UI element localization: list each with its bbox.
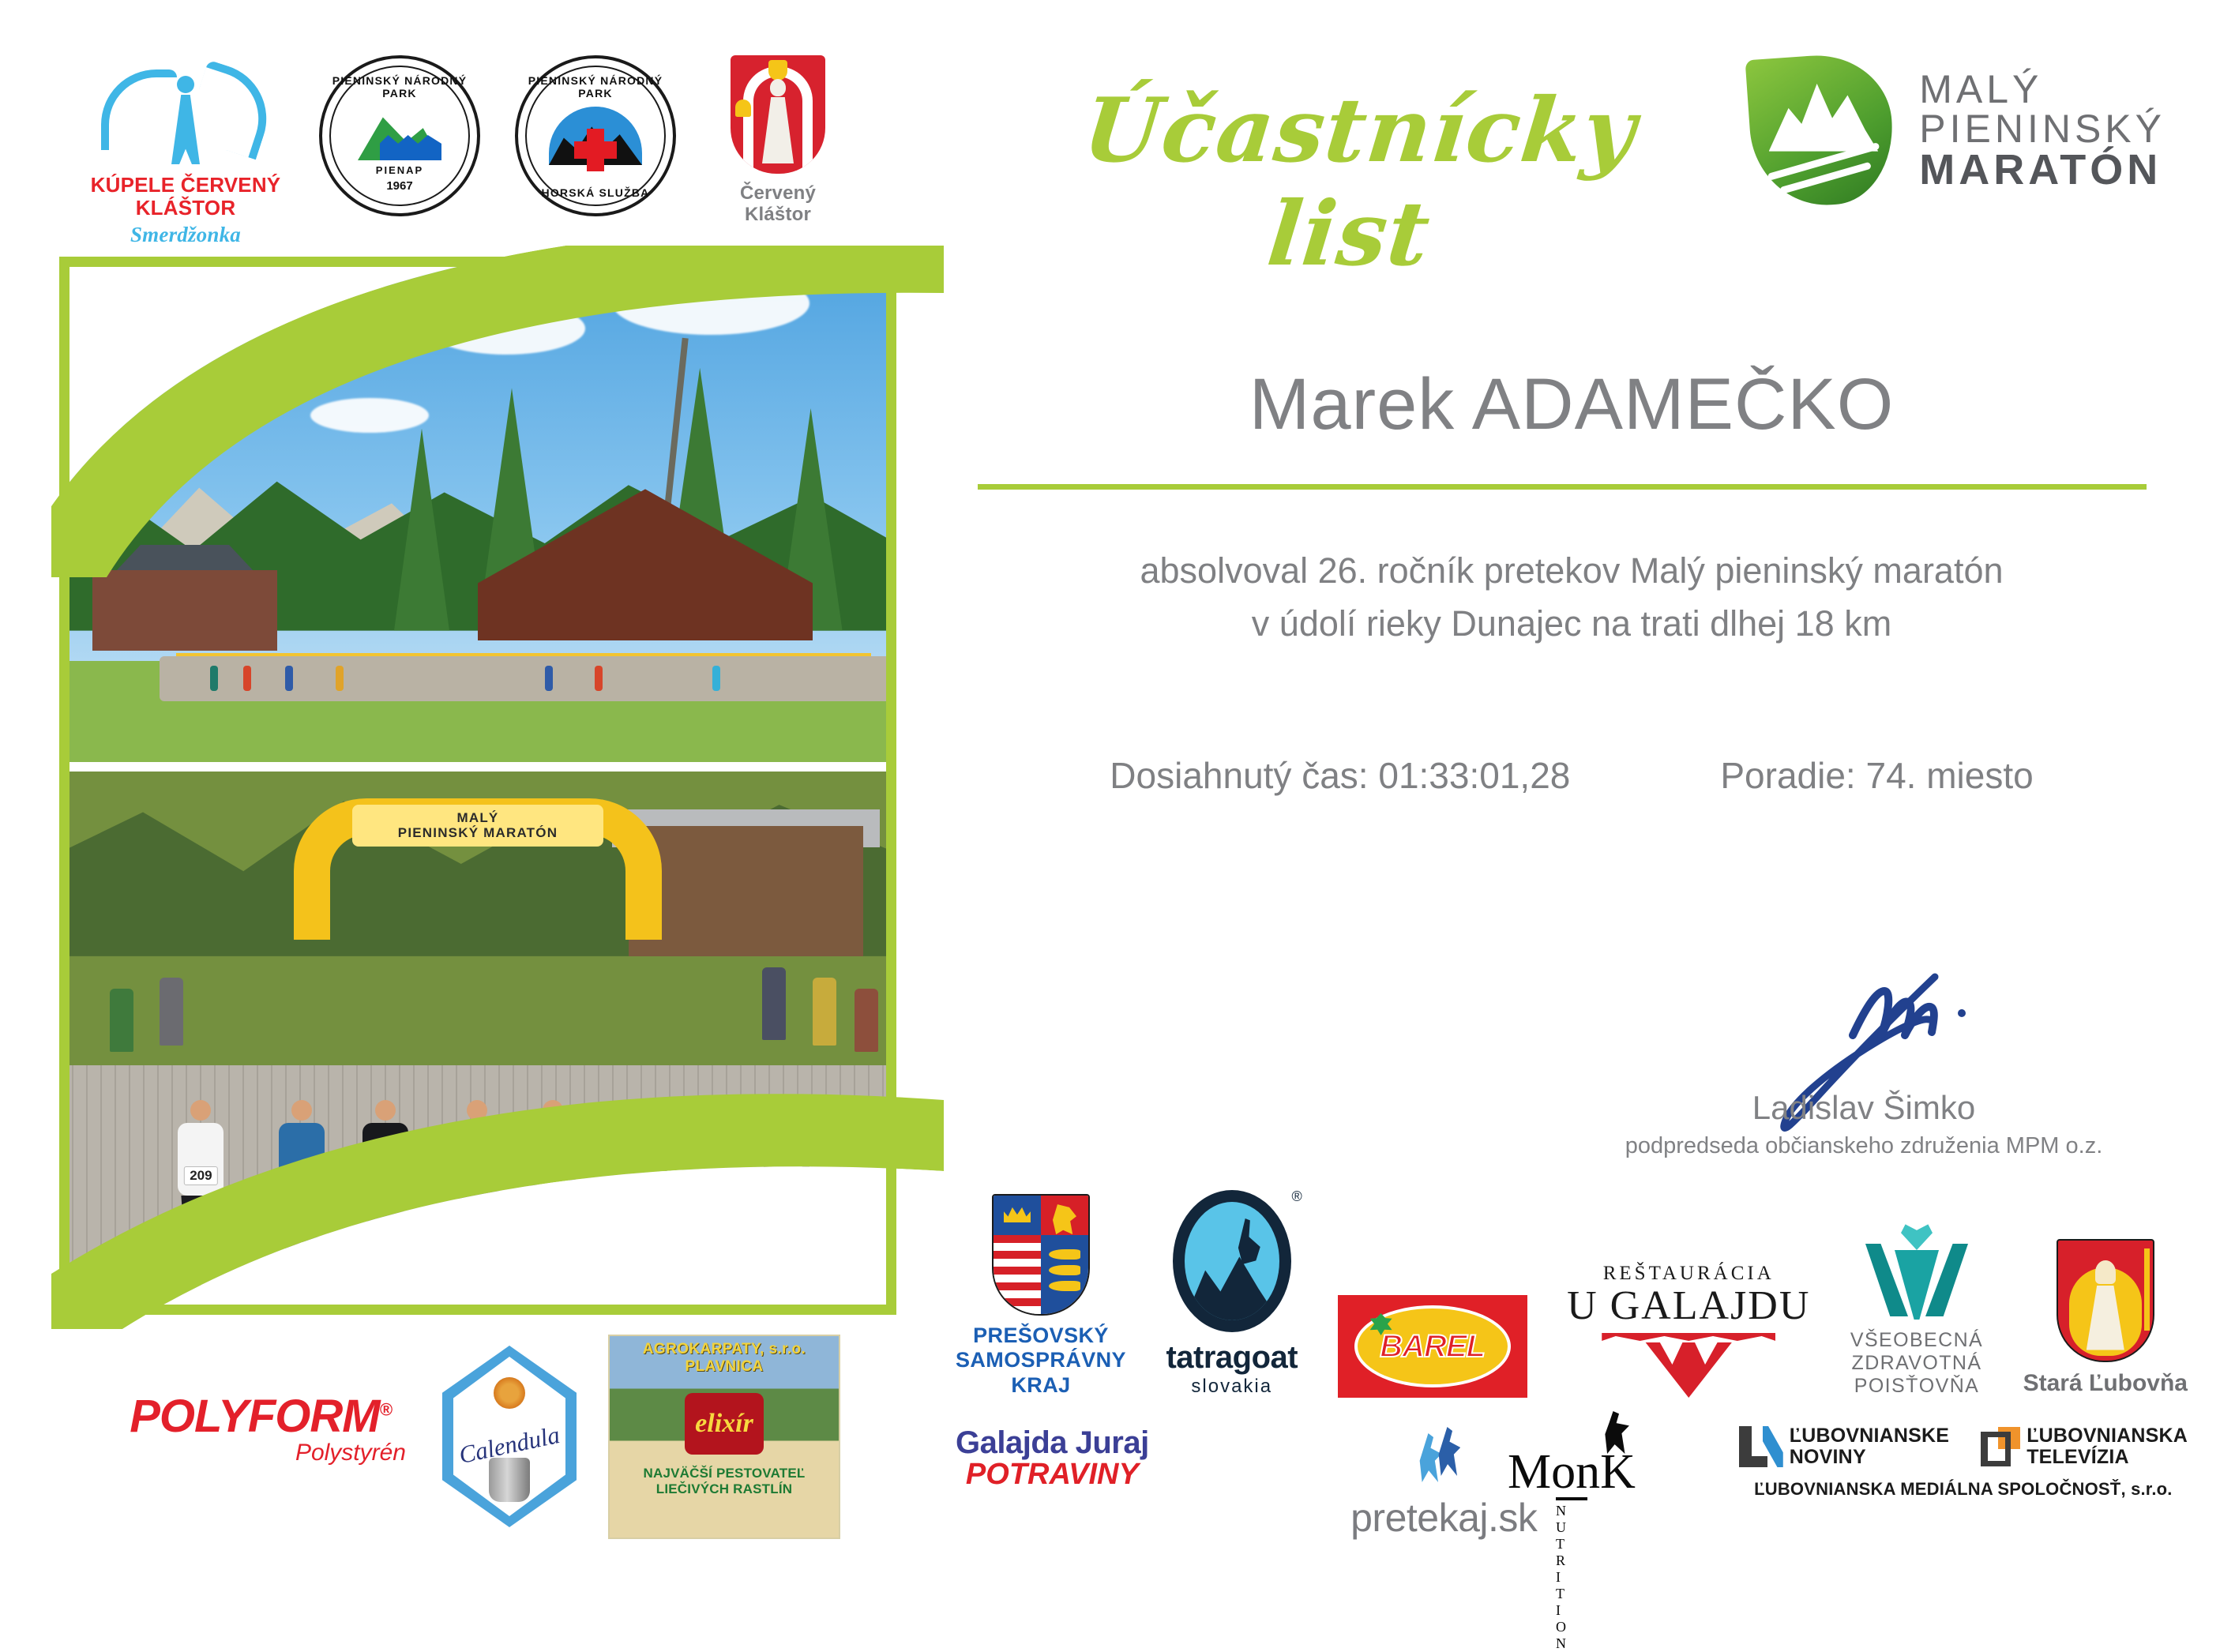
ugalajdu-line2: U GALAJDU bbox=[1567, 1285, 1810, 1328]
monk-subtitle: N U T R I T I O N bbox=[1556, 1503, 1587, 1652]
hs-arc-top: PIENINSKÝ NÁRODNÝ PARK bbox=[518, 74, 673, 99]
stara-lubovna-crest-icon bbox=[2057, 1239, 2154, 1362]
finish-place: Poradie: 74. miesto bbox=[1720, 754, 2033, 797]
media-company-note: ĽUBOVNIANSKA MEDIÁLNA SPOLOČNOSŤ, s.r.o. bbox=[1754, 1479, 2173, 1500]
monk-name: MonK bbox=[1508, 1445, 1636, 1499]
photo-panel: MALÝ PIENINSKÝ MARATÓN 209 74 bbox=[59, 257, 896, 1315]
runner-bib: 209 bbox=[184, 1166, 217, 1185]
logo-monk-nutrition: MonK N U T R I T I O N bbox=[1556, 1449, 1587, 1652]
sponsor-row-2: Galajda Juraj POTRAVINY MonK N U T R I T… bbox=[956, 1425, 2188, 1560]
amphitheatre-photo bbox=[59, 257, 896, 762]
signature-role: podpredseda občianskeho združenia MPM o.… bbox=[1564, 1133, 2164, 1159]
results-row: Dosiahnutý čas: 01:33:01,28 Poradie: 74.… bbox=[979, 754, 2164, 797]
logo-cerveny-klastor-obec: Červený Kláštor bbox=[711, 55, 845, 226]
sponsor-logos-bottom-left: POLYFORM® Polystyrén Calendula AGROKARPA… bbox=[103, 1335, 924, 1548]
folk-ornament-icon bbox=[1602, 1333, 1775, 1341]
pienap-seal-icon: PIENINSKÝ NÁRODNÝ PARK PIENAP 1967 bbox=[319, 55, 480, 216]
logo-u-galajdu: REŠTAURÁCIA U GALAJDU bbox=[1567, 1263, 1810, 1398]
logo-kupele-cerveny-klastor: KÚPELE ČERVENÝ KLÁŠTOR Smerdžonka bbox=[87, 55, 284, 246]
signature-name: Ladislav Šimko bbox=[1564, 1089, 2164, 1127]
title-divider bbox=[978, 484, 2147, 490]
top-partner-logos: KÚPELE ČERVENÝ KLÁŠTOR Smerdžonka PIENIN… bbox=[87, 55, 924, 237]
agrokarpaty-top: AGROKARPATY, s.r.o. PLAVNICA bbox=[610, 1336, 839, 1376]
runner-bib: 234 bbox=[770, 1166, 803, 1185]
vzp-line1: VŠEOBECNÁ bbox=[1850, 1329, 1983, 1352]
goat-mountain-icon: ® bbox=[1173, 1190, 1291, 1332]
folk-ornament-icon bbox=[1637, 1342, 1740, 1398]
agrokarpaty-bottom-2: LIEČIVÝCH RASTLÍN bbox=[610, 1481, 839, 1497]
psk-crest-icon bbox=[992, 1194, 1090, 1316]
pienap-arc-top: PIENINSKÝ NÁRODNÝ PARK bbox=[322, 74, 477, 99]
runners-icon bbox=[1418, 1425, 1470, 1485]
runner-bib: 74 bbox=[288, 1166, 314, 1185]
logo-tatragoat: ® tatragoat slovakia bbox=[1166, 1190, 1298, 1398]
tatragoat-reg: ® bbox=[1291, 1188, 1302, 1205]
tatragoat-line2: slovakia bbox=[1191, 1376, 1272, 1398]
vzp-mark-icon bbox=[1865, 1223, 1968, 1318]
runner-bib: 147 bbox=[535, 1166, 569, 1185]
logo-vseobecna-zdravotna-poistovna: VŠEOBECNÁ ZDRAVOTNÁ POISŤOVŇA bbox=[1850, 1223, 1983, 1398]
logo-barel: BAREL bbox=[1338, 1295, 1527, 1398]
stara-lubovna-caption: Stará Ľubovňa bbox=[2023, 1370, 2188, 1398]
barel-name: BAREL bbox=[1380, 1329, 1485, 1365]
agrokarpaty-brand: elixír bbox=[685, 1393, 764, 1455]
logo-galajda-juraj: Galajda Juraj POTRAVINY bbox=[956, 1425, 1149, 1492]
event-logo-line1: MALÝ bbox=[1919, 69, 2166, 109]
galajda-line1: Galajda Juraj bbox=[956, 1425, 1149, 1461]
psk-line1: PREŠOVSKÝ bbox=[956, 1323, 1126, 1348]
hs-arc-bottom: HORSKÁ SLUŽBA bbox=[518, 186, 673, 199]
mountain-leaf-icon bbox=[1750, 55, 1892, 205]
logo-kupele-line1: KÚPELE ČERVENÝ KLÁŠTOR bbox=[87, 174, 284, 220]
ln-line2: NOVINY bbox=[1790, 1447, 1949, 1468]
polyform-name: POLYFORM bbox=[130, 1391, 379, 1442]
coat-of-arms-icon bbox=[731, 55, 825, 174]
logo-presovsky-samospravny-kraj: PREŠOVSKÝ SAMOSPRÁVNY KRAJ bbox=[956, 1194, 1126, 1398]
logo-lubovnianske-noviny: ĽUBOVNIANSKE NOVINY bbox=[1739, 1425, 1949, 1468]
pienap-word: PIENAP bbox=[376, 164, 423, 176]
vzp-line2: ZDRAVOTNÁ bbox=[1850, 1352, 1983, 1375]
logo-pienap: PIENINSKÝ NÁRODNÝ PARK PIENAP 1967 bbox=[319, 55, 480, 216]
vzp-line3: POISŤOVŇA bbox=[1850, 1375, 1983, 1398]
certificate-page: KÚPELE ČERVENÝ KLÁŠTOR Smerdžonka PIENIN… bbox=[0, 0, 2235, 1579]
logo-agrokarpaty: AGROKARPATY, s.r.o. PLAVNICA elixír NAJV… bbox=[608, 1335, 840, 1539]
logo-lubovnianska-medialna: ĽUBOVNIANSKE NOVINY ĽUBOVNIANSKA TELEVÍZ… bbox=[1739, 1425, 2188, 1500]
recipient-description: absolvoval 26. ročník pretekov Malý pien… bbox=[979, 545, 2164, 650]
finish-time: Dosiahnutý čas: 01:33:01,28 bbox=[1110, 754, 1570, 797]
lt-line2: TELEVÍZIA bbox=[2027, 1447, 2188, 1468]
ln-monogram-icon bbox=[1739, 1426, 1783, 1467]
tatragoat-line1: tatragoat bbox=[1166, 1340, 1298, 1376]
agrokarpaty-bottom-1: NAJVÄČŠÍ PESTOVATEĽ bbox=[610, 1466, 839, 1481]
ugalajdu-line1: REŠTAURÁCIA bbox=[1603, 1263, 1775, 1285]
logo-cerveny-klastor-caption: Červený Kláštor bbox=[711, 183, 845, 226]
logo-horska-sluzba: PIENINSKÝ NÁRODNÝ PARK HORSKÁ SLUŽBA bbox=[515, 55, 676, 216]
psk-line2: SAMOSPRÁVNY bbox=[956, 1348, 1126, 1372]
sponsor-row-1: PREŠOVSKÝ SAMOSPRÁVNY KRAJ ® tatragoat s… bbox=[956, 1200, 2188, 1398]
runner-bib: 249 bbox=[368, 1166, 401, 1185]
lt-monogram-icon bbox=[1981, 1427, 2020, 1466]
logo-polyform: POLYFORM® Polystyrén bbox=[103, 1390, 419, 1466]
horska-sluzba-seal-icon: PIENINSKÝ NÁRODNÝ PARK HORSKÁ SLUŽBA bbox=[515, 55, 676, 216]
event-logo-line3: MARATÓN bbox=[1919, 148, 2166, 191]
logo-stara-lubovna: Stará Ľubovňa bbox=[2023, 1239, 2188, 1398]
arch-line2: PIENINSKÝ MARATÓN bbox=[398, 825, 558, 840]
arch-line1: MALÝ bbox=[457, 810, 499, 825]
logo-kupele-line2: Smerdžonka bbox=[130, 223, 241, 246]
marigold-flower-icon bbox=[494, 1377, 525, 1409]
runner-bib: 31 bbox=[657, 1166, 683, 1185]
water-angel-icon bbox=[95, 55, 276, 174]
signature-block: Ladislav Šimko podpredseda občianskeho z… bbox=[1564, 959, 2164, 1159]
pienap-year: 1967 bbox=[386, 179, 412, 193]
runner-bib: 92 bbox=[464, 1166, 490, 1185]
event-logo: MALÝ PIENINSKÝ MARATÓN bbox=[1750, 55, 2166, 205]
polyform-reg: ® bbox=[380, 1400, 392, 1420]
galajda-line2: POTRAVINY bbox=[966, 1458, 1139, 1492]
logo-calendula: Calendula bbox=[442, 1346, 577, 1527]
pretekaj-name: pretekaj.sk bbox=[1350, 1495, 1537, 1541]
race-start-photo: MALÝ PIENINSKÝ MARATÓN 209 74 bbox=[59, 772, 896, 1315]
mortar-pestle-icon bbox=[489, 1458, 530, 1502]
description-line-2: v údolí rieky Dunajec na trati dlhej 18 … bbox=[979, 598, 2164, 651]
page-title: Účastnícky list bbox=[976, 79, 1733, 286]
psk-line3: KRAJ bbox=[956, 1373, 1126, 1398]
lt-line1: ĽUBOVNIANSKA bbox=[2027, 1425, 2188, 1447]
logo-lubovnianska-televizia: ĽUBOVNIANSKA TELEVÍZIA bbox=[1981, 1425, 2188, 1468]
description-line-1: absolvoval 26. ročník pretekov Malý pien… bbox=[979, 545, 2164, 598]
recipient-name: Marek ADAMEČKO bbox=[979, 363, 2164, 446]
polyform-tagline: Polystyrén bbox=[103, 1440, 419, 1466]
inflatable-arch: MALÝ PIENINSKÝ MARATÓN bbox=[294, 798, 662, 940]
event-logo-line2: PIENINSKÝ bbox=[1919, 109, 2166, 148]
ln-line1: ĽUBOVNIANSKE bbox=[1790, 1425, 1949, 1447]
